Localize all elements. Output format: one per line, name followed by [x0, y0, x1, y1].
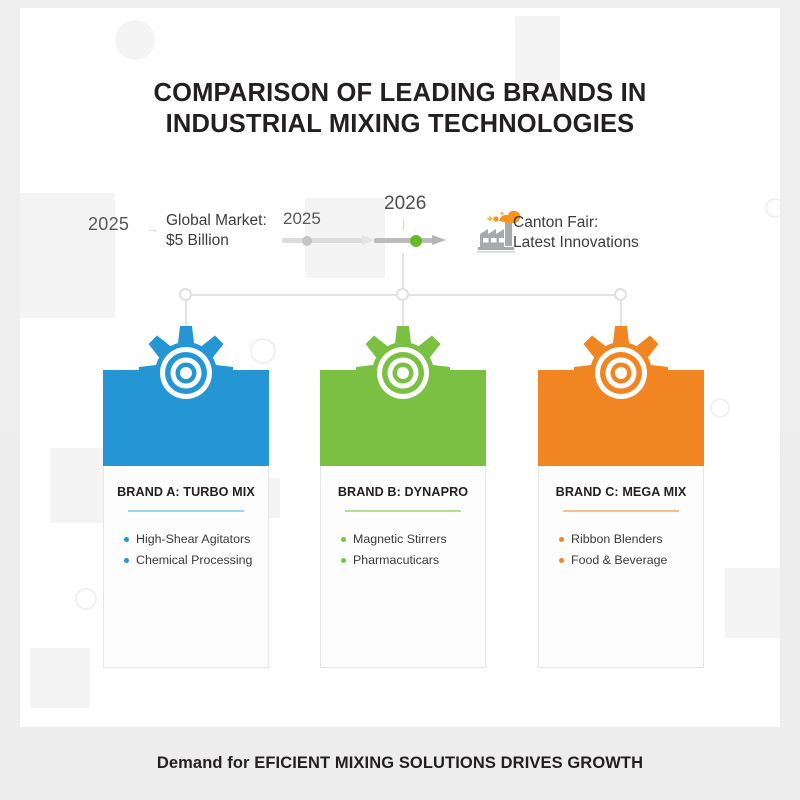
brand-card-brand-b[interactable]: BRAND B: DYNAPROMagnetic StirrersPharmac…: [320, 370, 486, 668]
feature-label: Ribbon Blenders: [571, 532, 663, 546]
bullet-icon: [124, 537, 129, 542]
timeline-bar: [282, 235, 452, 245]
bullet-icon: [559, 558, 564, 563]
timeline-segment-first: [282, 238, 366, 243]
timeline-arrowhead-second: [432, 235, 446, 245]
card-divider-brand-c: [563, 510, 679, 512]
feature-label: Food & Beverage: [571, 553, 667, 567]
card-header-brand-b: [320, 370, 486, 466]
arrow-right-icon: →: [145, 220, 159, 236]
brand-card-brand-c[interactable]: BRAND C: MEGA MIXRibbon BlendersFood & B…: [538, 370, 704, 668]
feature-item: Pharmacuticars: [341, 550, 485, 571]
card-divider-brand-a: [128, 510, 244, 512]
global-market-line-2: $5 Billion: [166, 231, 267, 251]
title-line-2: INDUSTRIAL MIXING TECHNOLOGIES: [20, 109, 780, 140]
card-header-brand-a: [103, 370, 269, 466]
feature-item: High-Shear Agitators: [124, 529, 268, 550]
feature-label: High-Shear Agitators: [136, 532, 250, 546]
brand-cards: BRAND A: TURBO MIXHigh-Shear AgitatorsCh…: [20, 330, 780, 675]
gear-icon: [571, 323, 671, 423]
card-body-brand-b: BRAND B: DYNAPROMagnetic StirrersPharmac…: [320, 466, 486, 668]
card-title-brand-c: BRAND C: MEGA MIX: [539, 485, 703, 499]
footer: Demand for EFICIENT MIXING SOLUTIONS DRI…: [0, 727, 800, 800]
connector-node-right: [614, 288, 627, 301]
card-title-brand-a: BRAND A: TURBO MIX: [104, 485, 268, 499]
feature-item: Ribbon Blenders: [559, 529, 703, 550]
canton-fair-line-2: Latest Innovations: [513, 233, 639, 253]
infographic-canvas: COMPARISON OF LEADING BRANDS IN INDUSTRI…: [20, 8, 780, 727]
card-title-brand-b: BRAND B: DYNAPRO: [321, 485, 485, 499]
timeline-section: 2025 → Global Market: $5 Billion 2025 20…: [20, 193, 780, 268]
feature-label: Pharmacuticars: [353, 553, 439, 567]
bullet-icon: [559, 537, 564, 542]
brand-card-brand-a[interactable]: BRAND A: TURBO MIXHigh-Shear AgitatorsCh…: [103, 370, 269, 668]
title-line-1: COMPARISON OF LEADING BRANDS IN: [20, 78, 780, 109]
global-market-label: Global Market: $5 Billion: [166, 211, 267, 251]
canton-fair-line-1: Canton Fair:: [513, 213, 639, 233]
gear-icon: [353, 323, 453, 423]
page-title: COMPARISON OF LEADING BRANDS IN INDUSTRI…: [20, 78, 780, 140]
timeline-dot-2026: [410, 235, 422, 247]
feature-label: Magnetic Stirrers: [353, 532, 447, 546]
timeline-segment-second: [374, 238, 436, 243]
bullet-icon: [341, 537, 346, 542]
feature-list-brand-a: High-Shear AgitatorsChemical Processing: [124, 529, 268, 571]
infographic-root: COMPARISON OF LEADING BRANDS IN INDUSTRI…: [0, 0, 800, 800]
footer-text: Demand for EFICIENT MIXING SOLUTIONS DRI…: [157, 754, 643, 773]
feature-item: Magnetic Stirrers: [341, 529, 485, 550]
timeline-label-2026: 2026: [384, 193, 426, 215]
feature-item: Chemical Processing: [124, 550, 268, 571]
bullet-icon: [124, 558, 129, 563]
global-market-line-1: Global Market:: [166, 211, 267, 231]
feature-list-brand-c: Ribbon BlendersFood & Beverage: [559, 529, 703, 571]
feature-label: Chemical Processing: [136, 553, 252, 567]
card-header-brand-c: [538, 370, 704, 466]
feature-list-brand-b: Magnetic StirrersPharmacuticars: [341, 529, 485, 571]
timeline-label-2025: 2025: [283, 209, 321, 229]
timeline-dot-2025: [302, 236, 312, 246]
timeline-tick-2026: [403, 219, 404, 230]
card-divider-brand-b: [345, 510, 461, 512]
connector-node-left: [179, 288, 192, 301]
feature-item: Food & Beverage: [559, 550, 703, 571]
card-body-brand-a: BRAND A: TURBO MIXHigh-Shear AgitatorsCh…: [103, 466, 269, 668]
connector-stem-up: [402, 253, 404, 293]
timeline-year-left: 2025: [88, 214, 129, 235]
card-body-brand-c: BRAND C: MEGA MIXRibbon BlendersFood & B…: [538, 466, 704, 668]
gear-icon: [136, 323, 236, 423]
canton-fair-label: Canton Fair: Latest Innovations: [513, 213, 639, 253]
bullet-icon: [341, 558, 346, 563]
connector-node-center: [396, 288, 409, 301]
